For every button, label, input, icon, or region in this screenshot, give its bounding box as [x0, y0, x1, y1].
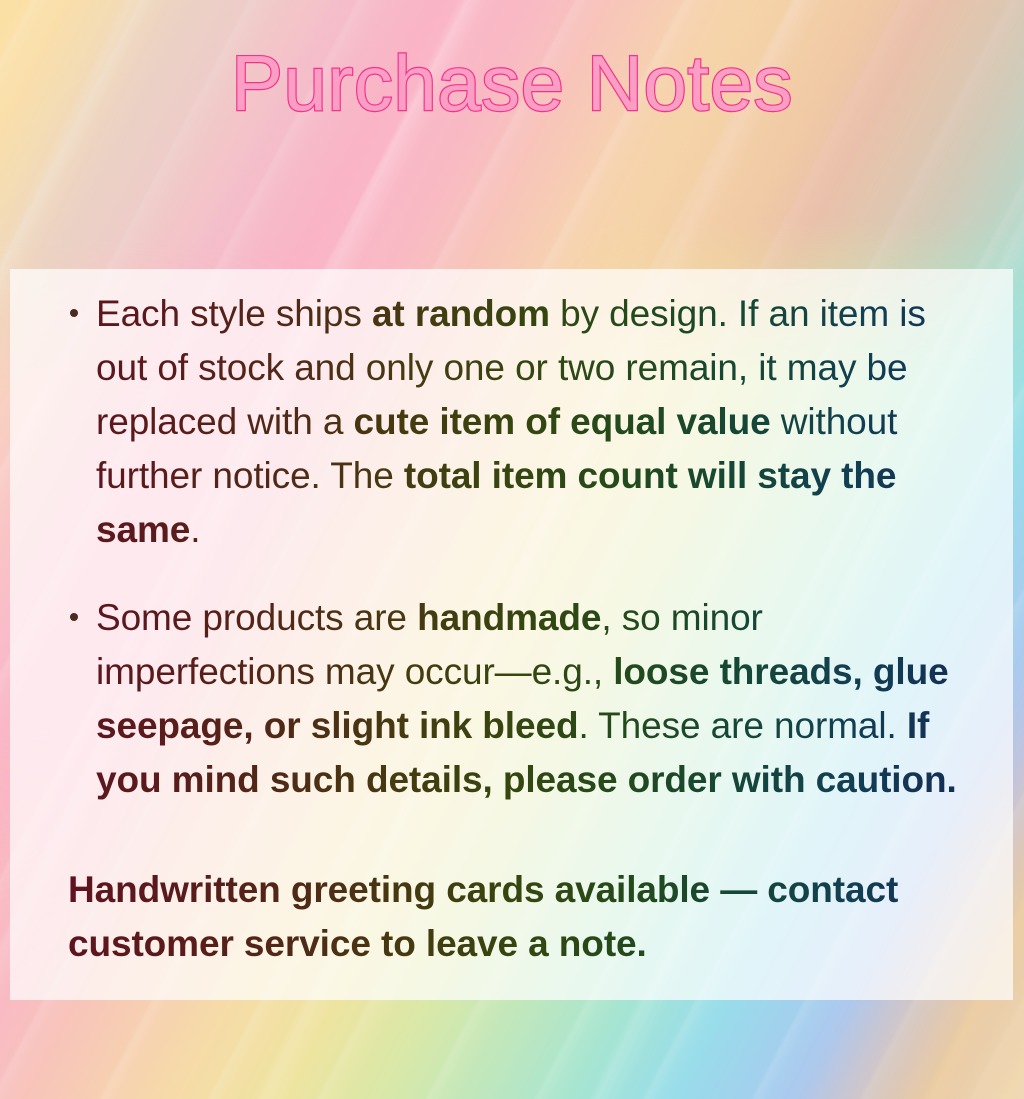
- body-text: Each style ships: [96, 293, 372, 334]
- bullet-icon: [70, 309, 78, 317]
- body-text: Some products are: [96, 597, 417, 638]
- notes-list: Each style ships at random by design. If…: [58, 287, 973, 807]
- body-text: . These are normal.: [578, 705, 906, 746]
- note-item: Some products are handmade, so minor imp…: [58, 591, 973, 807]
- emphasis-text: Handwritten greeting cards available — c…: [68, 869, 898, 964]
- bullet-icon: [70, 613, 78, 621]
- poster-canvas: Purchase Notes Each style ships at rando…: [0, 0, 1024, 1099]
- note-item: Each style ships at random by design. If…: [58, 287, 973, 557]
- emphasis-text: handmade: [417, 597, 601, 638]
- title-container: Purchase Notes: [0, 44, 1024, 122]
- body-text: .: [190, 509, 200, 550]
- footer-note: Handwritten greeting cards available — c…: [68, 863, 973, 971]
- page-title: Purchase Notes: [231, 44, 793, 122]
- notes-card: Each style ships at random by design. If…: [10, 269, 1013, 1000]
- emphasis-text: at random: [372, 293, 550, 334]
- emphasis-text: cute item of equal value: [354, 401, 771, 442]
